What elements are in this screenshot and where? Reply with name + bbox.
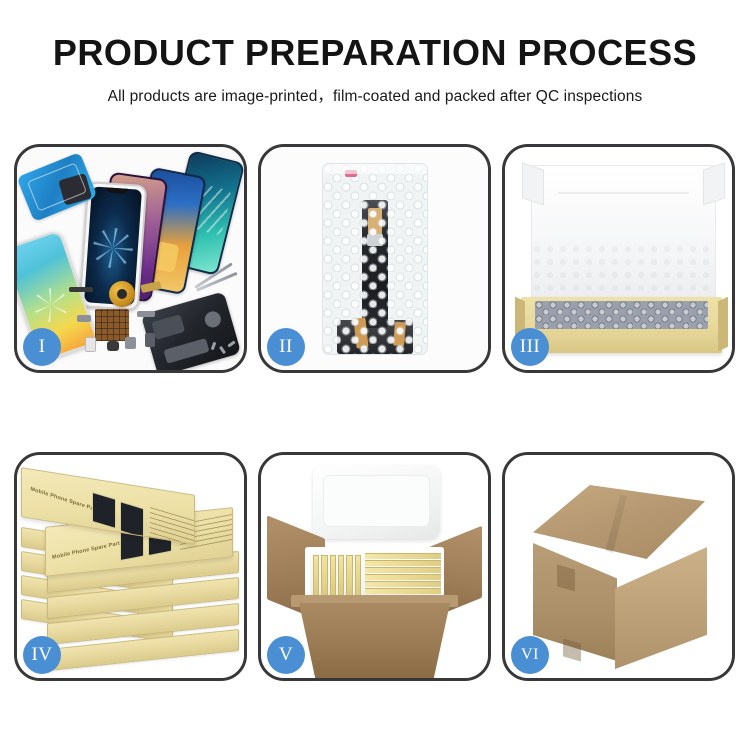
box-label-front: Mobile Phone Spare Parts — [52, 540, 124, 561]
screws-group — [212, 340, 238, 358]
carton-front — [299, 603, 450, 678]
process-panel-6[interactable]: VI — [502, 452, 735, 681]
panel-badge-5: V — [267, 636, 305, 674]
foam-sheet — [531, 243, 714, 299]
part-camera — [107, 341, 119, 351]
panel-badge-3: III — [511, 328, 549, 366]
part-button — [125, 337, 136, 349]
chip-grid-part — [95, 309, 129, 341]
box-label-back: Mobile Phone Spare Parts — [30, 486, 101, 514]
bubble-cushion-fill — [535, 301, 708, 329]
foam-cooler-lid — [313, 465, 440, 539]
process-panel-4[interactable]: Mobile Phone Spare Parts Mobile Phone Sp… — [14, 452, 247, 681]
process-panel-2[interactable]: II — [258, 144, 491, 373]
yellow-boxes-group-b — [365, 553, 441, 601]
process-panel-1[interactable]: I — [14, 144, 247, 373]
part-module — [145, 333, 155, 347]
page-subtitle: All products are image-printed，film-coat… — [0, 84, 750, 106]
part-strip — [69, 287, 93, 292]
process-panel-3[interactable]: III — [502, 144, 735, 373]
part-connector — [137, 311, 155, 317]
part-bracket — [77, 315, 91, 322]
panel-badge-1: I — [23, 328, 61, 366]
page-title: PRODUCT PREPARATION PROCESS — [0, 34, 750, 72]
process-panel-5[interactable]: V — [258, 452, 491, 681]
page-header: PRODUCT PREPARATION PROCESS All products… — [0, 0, 750, 106]
panel-badge-2: II — [267, 328, 305, 366]
speaker-coil-part — [109, 281, 135, 307]
process-panel-grid: I II — [14, 144, 736, 681]
panel-badge-4: IV — [23, 636, 61, 674]
bubble-wrapped-screen — [322, 163, 428, 355]
panel-badge-6: VI — [511, 636, 549, 674]
part-sim-tray — [85, 337, 96, 352]
